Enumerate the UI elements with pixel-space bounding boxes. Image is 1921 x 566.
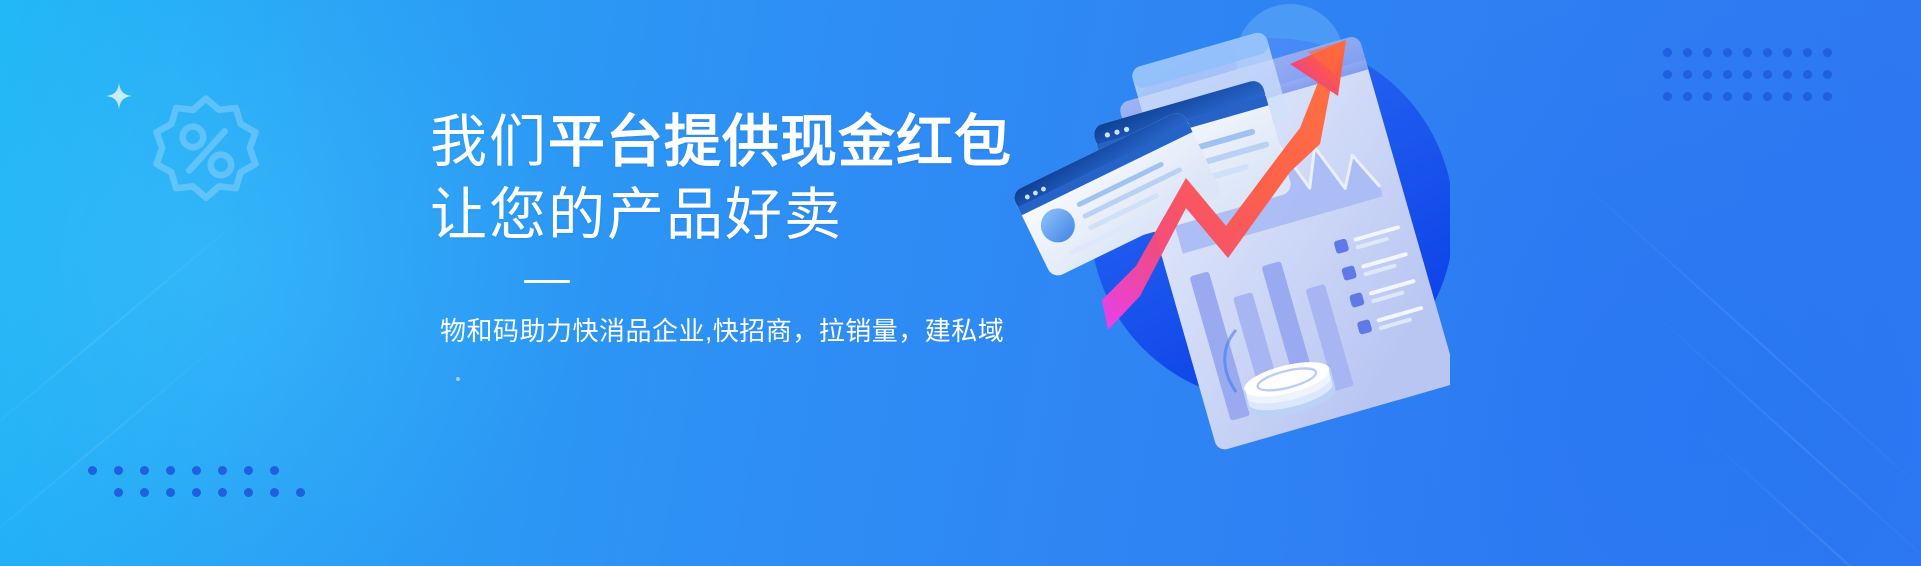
grid-dot [1683, 92, 1692, 101]
grid-dot [140, 488, 149, 497]
percent-badge-icon [150, 94, 262, 206]
grid-dot [192, 488, 201, 497]
grid-dot [1703, 92, 1712, 101]
card-avatar [1117, 149, 1169, 201]
grid-dot [114, 466, 123, 475]
grid-dot [1663, 70, 1672, 79]
illustration-light-blob [1236, 4, 1344, 112]
growth-arrow-icon [1102, 40, 1346, 330]
grid-dot [140, 466, 149, 475]
coin-stack-icon [1241, 355, 1338, 424]
grid-dot [1743, 70, 1752, 79]
connector-line [1225, 330, 1236, 392]
grid-dot [1823, 48, 1832, 57]
grid-dot [1663, 92, 1672, 101]
grid-dot [1743, 48, 1752, 57]
grid-dot [1803, 48, 1812, 57]
diagonal-streak [0, 329, 236, 562]
grid-dot [1703, 48, 1712, 57]
headline-line-2: 让您的产品好卖 [430, 179, 1050, 252]
sparkle-icon [106, 83, 132, 109]
grid-dot [218, 466, 227, 475]
grid-dot [1683, 70, 1692, 79]
grid-dot [1803, 70, 1812, 79]
grid-dot [244, 466, 253, 475]
headline-emphasis-text: 平台提供现金红包 [548, 110, 1012, 174]
grid-dot [1803, 92, 1812, 101]
grid-dot [270, 466, 279, 475]
grid-dot [1723, 92, 1732, 101]
grid-dot [1763, 70, 1772, 79]
grid-dot [1783, 92, 1792, 101]
grid-dot [1703, 70, 1712, 79]
grid-dot [1783, 70, 1792, 79]
dashboard-panel [1118, 35, 1450, 452]
banner-copy: 我们平台提供现金红包 让您的产品好卖 物和码助力快消品企业,快招商，拉销量，建私… [430, 106, 1050, 349]
grid-dot [1743, 92, 1752, 101]
diagonal-streak [1579, 180, 1921, 503]
dot-grid-top-right [1663, 48, 1843, 114]
grid-dot [1723, 70, 1732, 79]
promo-banner: 我们平台提供现金红包 让您的产品好卖 物和码助力快消品企业,快招商，拉销量，建私… [0, 0, 1921, 566]
grid-dot [192, 466, 201, 475]
grid-dot [114, 488, 123, 497]
banner-subtitle: 物和码助力快消品企业,快招商，拉销量，建私域 [440, 313, 1050, 349]
grid-dot [1663, 48, 1672, 57]
grid-dot [88, 466, 97, 475]
headline-line-1: 我们平台提供现金红包 [430, 106, 1050, 179]
right-glow [1261, 0, 1921, 566]
grid-dot [1723, 48, 1732, 57]
grid-dot [1763, 48, 1772, 57]
grid-dot [1783, 48, 1792, 57]
grid-dot [166, 488, 175, 497]
headline-divider [524, 280, 570, 283]
grid-dot [166, 466, 175, 475]
grid-dot [270, 488, 279, 497]
grid-dot [244, 488, 253, 497]
window-card-medium [1092, 78, 1294, 240]
dot-grid-bottom-left-row-2 [114, 488, 322, 510]
diagonal-streak [1639, 300, 1921, 566]
headline-lead-text: 我们 [430, 110, 548, 174]
grid-dot [218, 488, 227, 497]
grid-dot [296, 488, 305, 497]
accent-dot [456, 377, 460, 381]
grid-dot [1683, 48, 1692, 57]
diagonal-streak [0, 200, 262, 472]
dashboard-legend-list [1333, 223, 1425, 336]
dot-grid-bottom-left-row-1 [88, 466, 296, 488]
diagonal-streak [1699, 430, 1921, 566]
window-card-back [1130, 31, 1290, 158]
grid-dot [1823, 70, 1832, 79]
illustration-backdrop-circle [1090, 38, 1450, 402]
grid-dot [1823, 92, 1832, 101]
grid-dot [1763, 92, 1772, 101]
growth-dashboard-illustration [990, 0, 1450, 566]
